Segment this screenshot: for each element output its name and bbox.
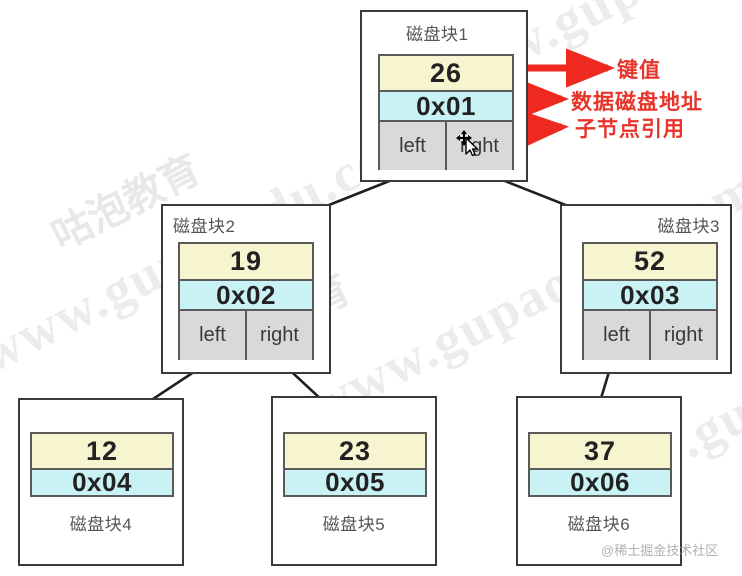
node-block1-address: 0x01 (380, 92, 512, 120)
annotation-label-key: 键值 (617, 54, 661, 84)
node-block3-left-pointer[interactable]: left (584, 311, 651, 360)
node-block2-right-pointer[interactable]: right (247, 311, 312, 360)
node-block1-right-pointer[interactable]: right (447, 122, 512, 170)
node-block1[interactable]: 磁盘块1 26 0x01 left right (360, 10, 528, 182)
annotation-label-pointer: 子节点引用 (575, 113, 685, 143)
node-block4[interactable]: 12 0x04 磁盘块4 (18, 398, 184, 566)
node-block3-address: 0x03 (584, 281, 716, 309)
node-block2-key: 19 (180, 244, 312, 281)
node-block4-cells: 12 0x04 (30, 432, 174, 497)
node-block2-pointer-row: left right (180, 309, 312, 360)
node-block6[interactable]: 37 0x06 磁盘块6 (516, 396, 682, 566)
node-block2[interactable]: 磁盘块2 19 0x02 left right (161, 204, 331, 374)
node-block5[interactable]: 23 0x05 磁盘块5 (271, 396, 437, 566)
node-block3[interactable]: 磁盘块3 52 0x03 left right (560, 204, 732, 374)
node-block4-key: 12 (32, 434, 172, 470)
node-block1-left-pointer[interactable]: left (380, 122, 447, 170)
node-block3-cells: 52 0x03 left right (582, 242, 718, 360)
node-block4-address: 0x04 (32, 470, 172, 495)
node-block1-title: 磁盘块1 (406, 20, 468, 45)
node-block1-key: 26 (380, 56, 512, 92)
node-block6-title: 磁盘块6 (518, 510, 680, 535)
node-block4-title: 磁盘块4 (20, 510, 182, 535)
node-block5-title: 磁盘块5 (273, 510, 435, 535)
diagram-canvas: www.gupaoedu.com www.gupaoedu.com www.gu… (0, 0, 742, 576)
node-block5-key: 23 (285, 434, 425, 470)
node-block6-cells: 37 0x06 (528, 432, 672, 497)
node-block3-pointer-row: left right (584, 309, 716, 360)
node-block3-right-pointer[interactable]: right (651, 311, 716, 360)
node-block2-address: 0x02 (180, 281, 312, 309)
node-block5-address: 0x05 (285, 470, 425, 495)
node-block1-pointer-row: left right (380, 120, 512, 170)
node-block2-title: 磁盘块2 (173, 212, 235, 237)
annotation-label-address: 数据磁盘地址 (571, 86, 703, 116)
node-block2-left-pointer[interactable]: left (180, 311, 247, 360)
node-block5-cells: 23 0x05 (283, 432, 427, 497)
node-block3-title: 磁盘块3 (658, 212, 720, 237)
node-block6-key: 37 (530, 434, 670, 470)
node-block6-address: 0x06 (530, 470, 670, 495)
node-block1-cells: 26 0x01 left right (378, 54, 514, 170)
node-block3-key: 52 (584, 244, 716, 281)
node-block2-cells: 19 0x02 left right (178, 242, 314, 360)
